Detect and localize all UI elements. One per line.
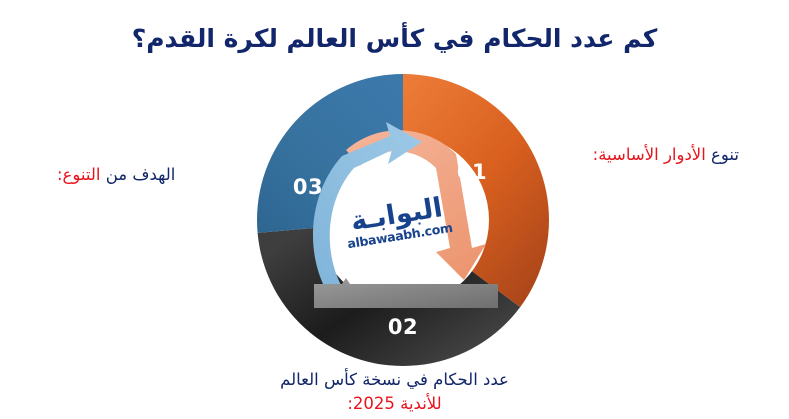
bottom-caption: عدد الحكام في نسخة كأس العالم للأندية 20…	[0, 368, 789, 416]
label-primary-roles-highlight: الأدوار الأساسية:	[593, 145, 706, 164]
page-title: كم عدد الحكام في كأس العالم لكرة القدم؟	[0, 22, 789, 56]
bottom-caption-line2: للأندية 2025:	[0, 392, 789, 416]
cycle-segment-02-number: 02	[388, 315, 418, 339]
infographic-page: كم عدد الحكام في كأس العالم لكرة القدم؟ …	[0, 0, 789, 419]
bottom-caption-line1: عدد الحكام في نسخة كأس العالم	[280, 370, 509, 389]
label-primary-roles-prefix: تنوع	[706, 145, 739, 164]
label-diversity-goal: الهدف من التنوع:	[57, 163, 175, 187]
label-primary-roles: تنوع الأدوار الأساسية:	[593, 143, 739, 167]
label-diversity-goal-highlight: التنوع:	[57, 165, 101, 184]
cycle-segment-03-number: 03	[293, 175, 323, 199]
cycle-segment-01-number: 01	[457, 160, 487, 184]
label-diversity-goal-prefix: الهدف من	[101, 165, 176, 184]
cycle-diagram: 01 02 03	[250, 72, 556, 368]
